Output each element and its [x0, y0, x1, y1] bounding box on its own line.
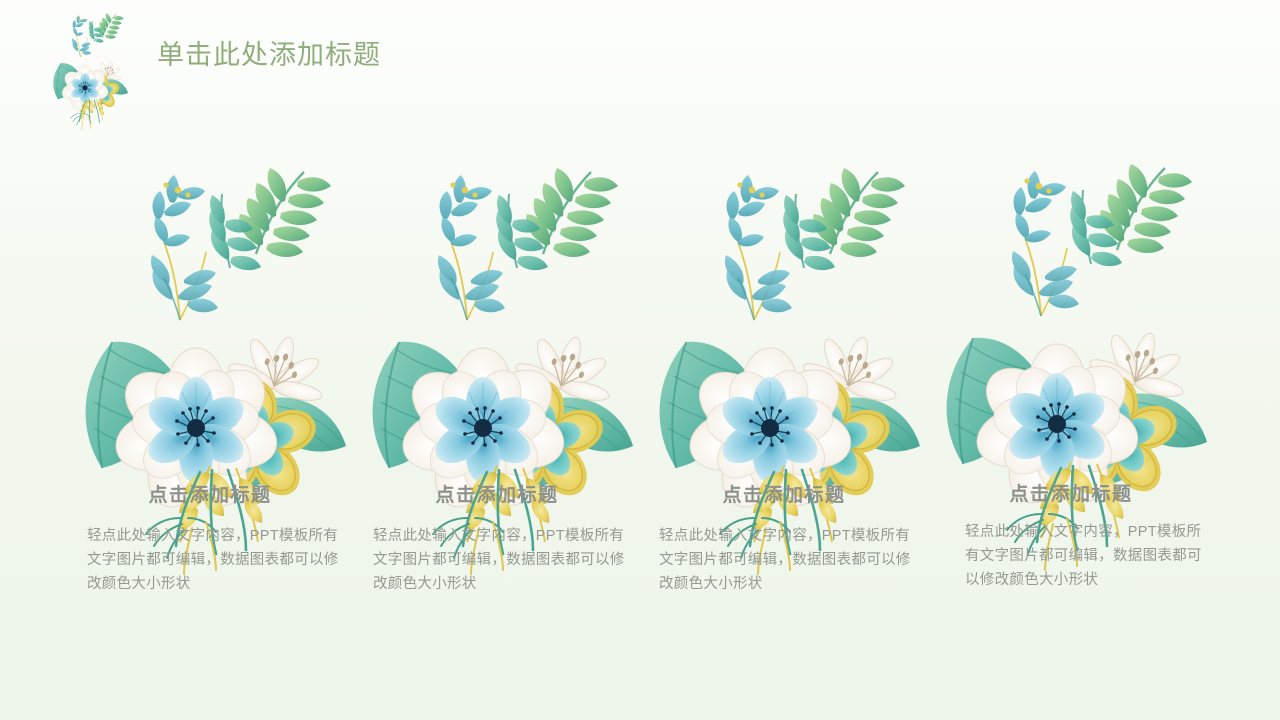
flower-bouquet-icon	[921, 146, 1221, 466]
flower-bouquet-icon	[347, 150, 647, 470]
slide-canvas: 单击此处添加标题 点击添加标题 轻点此处输入文字内容，PPT模板所有文字图片都可…	[0, 0, 1280, 720]
column-body-text[interactable]: 轻点此处输入文字内容，PPT模板所有文字图片都可编辑，数据图表都可以修改颜色大小…	[965, 520, 1205, 592]
column-heading[interactable]: 点击添加标题	[60, 480, 360, 507]
column-body-text[interactable]: 轻点此处输入文字内容，PPT模板所有文字图片都可编辑，数据图表都可以修改颜色大小…	[87, 524, 339, 596]
flower-bouquet-icon	[46, 2, 132, 106]
flower-bouquet-icon	[634, 150, 934, 470]
column-heading[interactable]: 点击添加标题	[921, 479, 1221, 506]
column-heading[interactable]: 点击添加标题	[347, 480, 647, 507]
slide-header: 单击此处添加标题	[0, 0, 1280, 110]
content-column: 点击添加标题 轻点此处输入文字内容，PPT模板所有文字图片都可编辑，数据图表都可…	[921, 150, 1221, 670]
content-column: 点击添加标题 轻点此处输入文字内容，PPT模板所有文字图片都可编辑，数据图表都可…	[347, 150, 647, 670]
page-title[interactable]: 单击此处添加标题	[157, 38, 381, 72]
column-body-text[interactable]: 轻点此处输入文字内容，PPT模板所有文字图片都可编辑，数据图表都可以修改颜色大小…	[373, 524, 625, 596]
column-body-text[interactable]: 轻点此处输入文字内容，PPT模板所有文字图片都可编辑，数据图表都可以修改颜色大小…	[659, 524, 911, 596]
content-column: 点击添加标题 轻点此处输入文字内容，PPT模板所有文字图片都可编辑，数据图表都可…	[60, 150, 360, 670]
column-heading[interactable]: 点击添加标题	[634, 480, 934, 507]
content-column: 点击添加标题 轻点此处输入文字内容，PPT模板所有文字图片都可编辑，数据图表都可…	[634, 150, 934, 670]
flower-bouquet-icon	[60, 150, 360, 470]
